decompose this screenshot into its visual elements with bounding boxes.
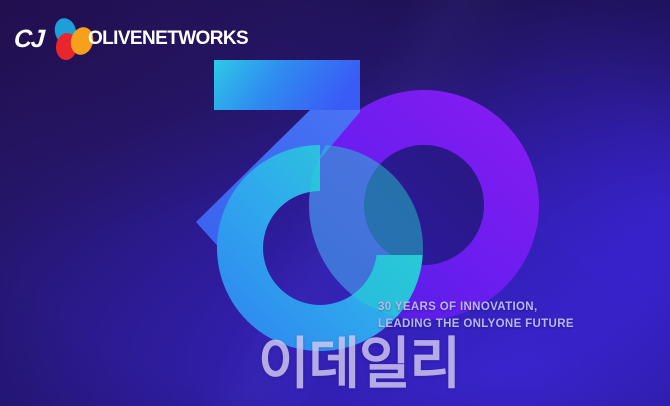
tagline-line-1: 30 YEARS OF INNOVATION, — [378, 299, 574, 316]
cj-olivenetworks-logo: CJ OLIVENETWORKS — [14, 18, 214, 58]
cj-wordmark: CJ — [13, 27, 44, 52]
anniversary-graphic: CJ OLIVENETWORKS 30 YEARS OF INNOVATION,… — [0, 0, 670, 406]
tagline: 30 YEARS OF INNOVATION, LEADING THE ONLY… — [378, 299, 574, 333]
cj-blossom-icon — [42, 18, 94, 60]
olivenetworks-wordmark: OLIVENETWORKS — [88, 29, 248, 48]
edaily-watermark: 이데일리 — [258, 337, 460, 393]
tagline-line-2: LEADING THE ONLYONE FUTURE — [378, 316, 574, 333]
